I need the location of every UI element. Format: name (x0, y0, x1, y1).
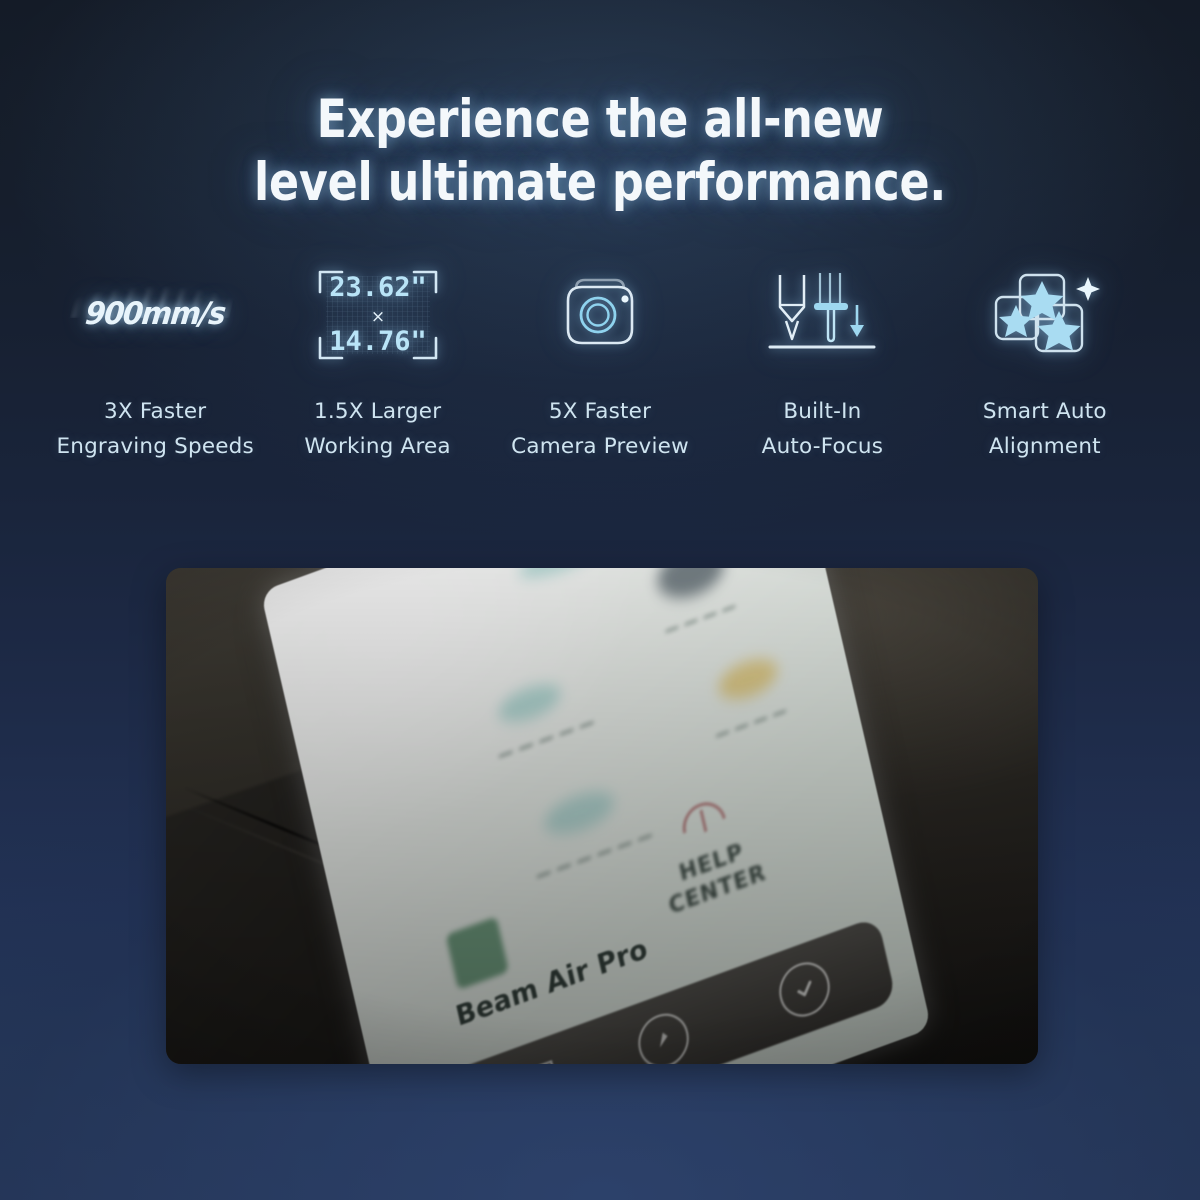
feature-label-line-2: Alignment (983, 429, 1107, 464)
smart-alignment-stars-icon (984, 262, 1106, 368)
speed-wordmark-icon: 900mm/s (60, 262, 250, 368)
feature-label-working-area: 1.5X Larger Working Area (304, 394, 450, 464)
headline-line-2: level ultimate performance. (42, 151, 1158, 214)
feature-label-line-2: Camera Preview (511, 429, 689, 464)
feature-label-engraving-speed: 3X Faster Engraving Speeds (56, 394, 253, 464)
working-area-frame-icon: 23.62" × 14.76" (312, 262, 444, 368)
product-photo: — — — — — — — — — — — — — — — — — — — Be… (166, 568, 1038, 1064)
feature-auto-focus: Built-In Auto-Focus (711, 262, 933, 464)
feature-label-line-2: Working Area (304, 429, 450, 464)
working-area-width-text: 23.62" (329, 272, 427, 303)
auto-focus-probe-icon (762, 262, 882, 368)
feature-engraving-speed: 900mm/s 3X Faster Engraving Speeds (44, 262, 266, 464)
feature-smart-alignment: Smart Auto Alignment (934, 262, 1156, 464)
multiply-symbol: × (370, 307, 384, 327)
feature-label-line-1: 1.5X Larger (314, 399, 441, 424)
feature-label-line-2: Engraving Speeds (56, 429, 253, 464)
feature-label-camera-preview: 5X Faster Camera Preview (511, 394, 689, 464)
feature-label-line-2: Auto-Focus (762, 429, 883, 464)
camera-icon (546, 262, 654, 368)
headline-line-1: Experience the all-new (42, 88, 1158, 151)
photo-vignette (166, 568, 1038, 1064)
feature-label-line-1: Built-In (783, 399, 861, 424)
working-area-height-text: 14.76" (329, 326, 427, 357)
feature-label-auto-focus: Built-In Auto-Focus (762, 394, 883, 464)
feature-list: 900mm/s 3X Faster Engraving Speeds (44, 262, 1156, 464)
feature-working-area: 23.62" × 14.76" 1.5X Larger Working Area (266, 262, 488, 464)
headline: Experience the all-new level ultimate pe… (0, 88, 1200, 214)
promo-banner: Experience the all-new level ultimate pe… (0, 0, 1200, 1200)
feature-label-smart-alignment: Smart Auto Alignment (983, 394, 1107, 464)
feature-label-line-1: 5X Faster (549, 399, 651, 424)
feature-camera-preview: 5X Faster Camera Preview (489, 262, 711, 464)
speed-value-text: 900mm/s (64, 296, 246, 332)
feature-label-line-1: Smart Auto (983, 399, 1107, 424)
feature-label-line-1: 3X Faster (104, 399, 206, 424)
